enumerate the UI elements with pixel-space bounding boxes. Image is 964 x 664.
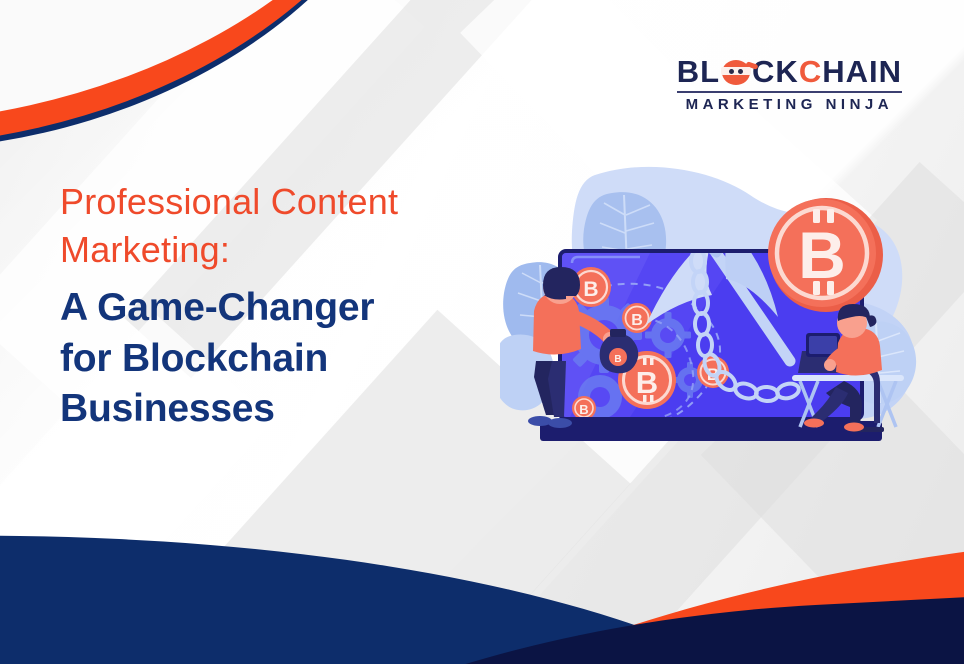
brand-logo[interactable]: BL CK C HAIN MARKETING NINJA <box>677 56 902 112</box>
logo-text-before: BL <box>677 56 720 87</box>
ninja-mask-icon <box>721 58 751 86</box>
svg-text:B: B <box>631 312 643 329</box>
headline-main-line1: A Game-Changer <box>60 283 530 334</box>
headline-block: Professional Content Marketing: A Game-C… <box>60 178 530 435</box>
logo-subtitle: MARKETING NINJA <box>677 97 902 112</box>
screen-coin-5: B <box>572 396 596 420</box>
svg-text:B: B <box>636 365 658 400</box>
logo-divider <box>677 91 902 93</box>
headline-main-line2: for Blockchain <box>60 334 530 385</box>
headline-eyebrow-line2: Marketing: <box>60 226 530 274</box>
svg-text:B: B <box>583 278 598 301</box>
promo-banner: BL CK C HAIN MARKETING NINJA Professiona… <box>0 0 964 664</box>
logo-text-mid: CK <box>752 56 799 87</box>
svg-text:B: B <box>579 402 588 417</box>
logo-letter-c: C <box>799 56 822 87</box>
blockchain-mining-illustration: B B B <box>500 165 950 465</box>
svg-text:B: B <box>798 218 846 292</box>
screen-coin-3: B <box>622 303 652 333</box>
desk-surface <box>792 375 904 381</box>
logo-text-after: HAIN <box>822 56 902 87</box>
headline-eyebrow-line1: Professional Content <box>60 178 530 226</box>
logo-wordmark: BL CK C HAIN <box>677 56 902 87</box>
headline-main-line3: Businesses <box>60 384 530 435</box>
laptop-base <box>540 421 882 441</box>
svg-text:B: B <box>614 354 621 365</box>
